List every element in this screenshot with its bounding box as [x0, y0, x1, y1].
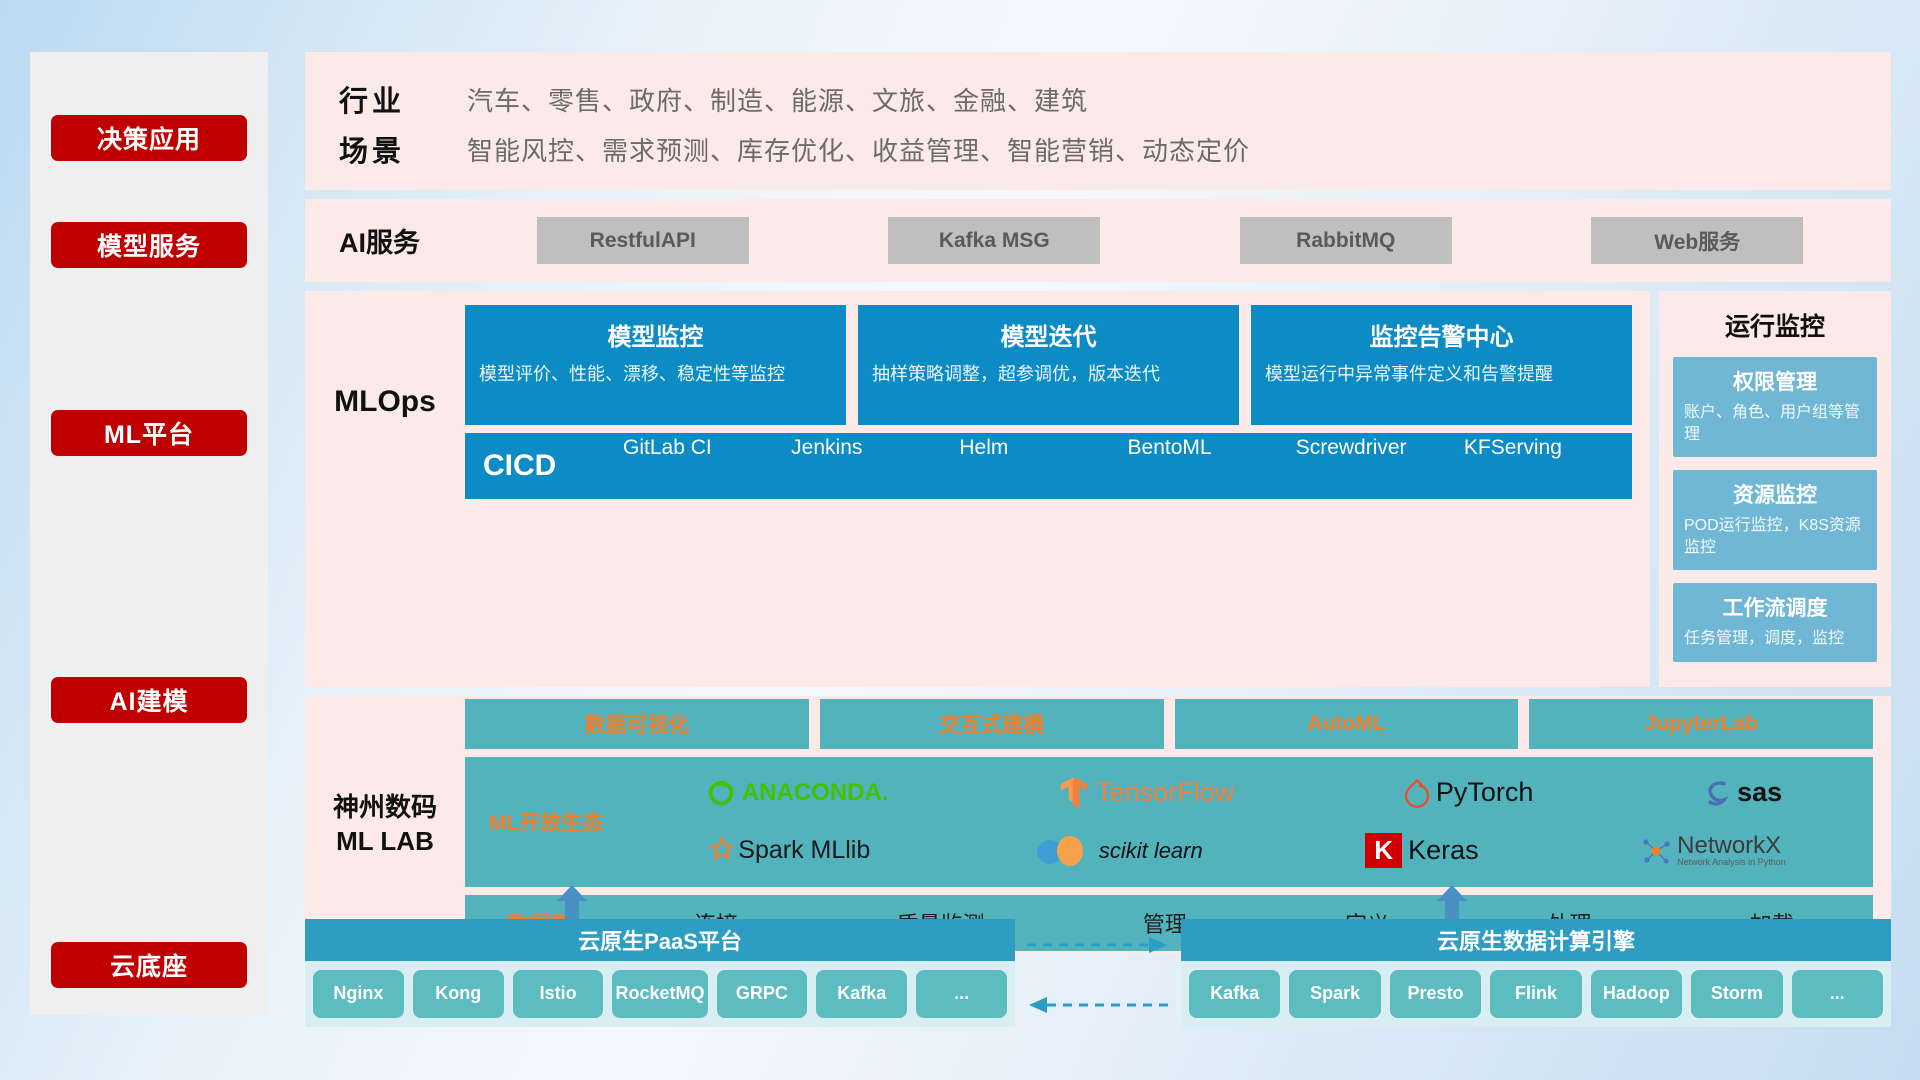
- sidebar-item-label: 云底座: [110, 947, 188, 983]
- pytorch-icon: [1404, 778, 1430, 808]
- mlops-card-model-iteration[interactable]: 模型迭代 抽样策略调整，超参调优，版本迭代: [858, 305, 1239, 425]
- tool-chip-interactive-modeling[interactable]: 交互式建模: [820, 699, 1164, 749]
- card-desc: 任务管理，调度，监控: [1684, 628, 1866, 650]
- sidebar-item-label: 决策应用: [97, 120, 201, 156]
- ml-open-ecosystem: ML开放生态 ANACONDA.: [465, 757, 1873, 887]
- data-compute-engine-block: 云原生数据计算引擎 Kafka Spark Presto Flink Hadoo…: [1181, 919, 1891, 1027]
- data-compute-engine-title: 云原生数据计算引擎: [1181, 919, 1891, 961]
- engine-pill-list: Kafka Spark Presto Flink Hadoop Storm ..…: [1181, 961, 1891, 1027]
- paas-platform-title: 云原生PaaS平台: [305, 919, 1015, 961]
- card-title: 资源监控: [1684, 479, 1866, 509]
- networkx-logo[interactable]: NetworkX Network Analysis in Python: [1641, 834, 1786, 867]
- anaconda-label: ANACONDA.: [742, 779, 889, 807]
- pytorch-label: PyTorch: [1436, 777, 1534, 808]
- tool-chip-data-visualization[interactable]: 数据可视化: [465, 699, 809, 749]
- scikit-learn-icon: [1033, 834, 1093, 868]
- mlops-card-row: 模型监控 模型评价、性能、漂移、稳定性等监控 模型迭代 抽样策略调整，超参调优，…: [465, 305, 1632, 425]
- paas-pill-rocketmq[interactable]: RocketMQ: [612, 970, 707, 1018]
- cicd-item-gitlab-ci[interactable]: GitLab CI: [623, 433, 791, 499]
- ai-service-buttons: RestfulAPI Kafka MSG RabbitMQ Web服务: [467, 217, 1891, 264]
- sidebar-item-model-service[interactable]: 模型服务: [51, 222, 247, 268]
- engine-pill-hadoop[interactable]: Hadoop: [1591, 970, 1682, 1018]
- engine-pill-spark[interactable]: Spark: [1289, 970, 1380, 1018]
- cicd-row: CICD GitLab CI Jenkins Helm BentoML Scre…: [465, 433, 1632, 499]
- paas-pill-istio[interactable]: Istio: [513, 970, 604, 1018]
- architecture-stack: 行业 汽车、零售、政府、制造、能源、文旅、金融、建筑 场景 智能风控、需求预测、…: [305, 52, 1891, 963]
- ai-service-band: AI服务 RestfulAPI Kafka MSG RabbitMQ Web服务: [305, 199, 1891, 282]
- anaconda-icon: [706, 778, 736, 808]
- paas-pill-nginx[interactable]: Nginx: [313, 970, 404, 1018]
- service-button-rabbitmq[interactable]: RabbitMQ: [1240, 217, 1452, 264]
- paas-pill-list: Nginx Kong Istio RocketMQ GRPC Kafka ...: [305, 961, 1015, 1027]
- engine-pill-presto[interactable]: Presto: [1390, 970, 1481, 1018]
- sidebar-item-ml-platform[interactable]: ML平台: [51, 410, 247, 456]
- upward-arrow-engine: [1435, 885, 1469, 919]
- sidebar-item-label: ML平台: [104, 415, 194, 451]
- engine-pill-kafka[interactable]: Kafka: [1189, 970, 1280, 1018]
- cicd-item-kfserving[interactable]: KFServing: [1464, 433, 1632, 499]
- anaconda-logo[interactable]: ANACONDA.: [706, 778, 889, 808]
- spark-mllib-logo[interactable]: Spark MLlib: [702, 836, 870, 866]
- tensorflow-label: TensorFlow: [1096, 777, 1234, 808]
- pytorch-logo[interactable]: PyTorch: [1404, 777, 1534, 808]
- mlops-card-model-monitoring[interactable]: 模型监控 模型评价、性能、漂移、稳定性等监控: [465, 305, 846, 425]
- ecosystem-logo-row-1: ANACONDA. TensorFlow: [621, 765, 1867, 821]
- cicd-label: CICD: [483, 449, 623, 483]
- monitor-card-resource[interactable]: 资源监控 POD运行监控，K8S资源监控: [1673, 470, 1877, 570]
- card-title: 监控告警中心: [1265, 317, 1618, 352]
- card-desc: 抽样策略调整，超参调优，版本迭代: [872, 362, 1225, 386]
- tensorflow-logo[interactable]: TensorFlow: [1058, 776, 1234, 810]
- networkx-label: NetworkX: [1677, 834, 1786, 858]
- cicd-item-jenkins[interactable]: Jenkins: [791, 433, 959, 499]
- runtime-monitor-panel: 运行监控 权限管理 账户、角色、用户组等管理 资源监控 POD运行监控，K8S资…: [1659, 291, 1891, 687]
- industry-value: 汽车、零售、政府、制造、能源、文旅、金融、建筑: [467, 81, 1088, 118]
- sidebar-item-cloud-base[interactable]: 云底座: [51, 942, 247, 988]
- keras-logo[interactable]: K Keras: [1365, 833, 1478, 868]
- scenario-row: 场景 智能风控、需求预测、库存优化、收益管理、智能营销、动态定价: [339, 124, 1891, 174]
- decision-application-band: 行业 汽车、零售、政府、制造、能源、文旅、金融、建筑 场景 智能风控、需求预测、…: [305, 52, 1891, 190]
- scikit-learn-label: scikit learn: [1099, 838, 1203, 864]
- card-title: 权限管理: [1684, 366, 1866, 396]
- sidebar-item-label: 模型服务: [97, 227, 201, 263]
- scikit-learn-logo[interactable]: scikit learn: [1033, 834, 1203, 868]
- monitor-card-permission[interactable]: 权限管理 账户、角色、用户组等管理: [1673, 357, 1877, 457]
- sas-logo[interactable]: sas: [1703, 777, 1782, 808]
- ml-lab-tool-row: 数据可视化 交互式建模 AutoML JupyterLab: [465, 699, 1873, 749]
- networkx-sublabel: Network Analysis in Python: [1677, 858, 1786, 867]
- paas-pill-grpc[interactable]: GRPC: [717, 970, 808, 1018]
- stack-level-sidebar: 决策应用 模型服务 ML平台 AI建模 云底座: [30, 52, 268, 1015]
- card-title: 模型迭代: [872, 317, 1225, 352]
- service-button-restfulapi[interactable]: RestfulAPI: [537, 217, 749, 264]
- keras-k-icon: K: [1365, 833, 1402, 868]
- sidebar-item-label: AI建模: [109, 682, 188, 718]
- cicd-item-bentoml[interactable]: BentoML: [1128, 433, 1296, 499]
- sidebar-item-decision-app[interactable]: 决策应用: [51, 115, 247, 161]
- engine-pill-storm[interactable]: Storm: [1691, 970, 1782, 1018]
- mlops-band: MLOps 模型监控 模型评价、性能、漂移、稳定性等监控 模型迭代 抽样策略调整…: [305, 291, 1650, 687]
- ml-lab-label-en: ML LAB: [305, 825, 465, 859]
- scenario-value: 智能风控、需求预测、库存优化、收益管理、智能营销、动态定价: [467, 131, 1250, 168]
- service-button-kafka-msg[interactable]: Kafka MSG: [888, 217, 1100, 264]
- paas-pill-kafka[interactable]: Kafka: [816, 970, 907, 1018]
- spark-mllib-label: Spark MLlib: [738, 836, 870, 865]
- tool-chip-automl[interactable]: AutoML: [1175, 699, 1519, 749]
- card-desc: 模型运行中异常事件定义和告警提醒: [1265, 362, 1618, 386]
- keras-label: Keras: [1408, 835, 1479, 866]
- sidebar-item-ai-modeling[interactable]: AI建模: [51, 677, 247, 723]
- ecosystem-logo-row-2: Spark MLlib scikit learn K Keras: [621, 823, 1867, 879]
- sas-label: sas: [1737, 777, 1782, 808]
- ml-lab-label-cn: 神州数码: [305, 791, 465, 825]
- ml-lab-label: 神州数码 ML LAB: [305, 791, 465, 859]
- spark-star-icon: [702, 836, 732, 866]
- bidirectional-dashed-connector: [1023, 931, 1173, 1023]
- tensorflow-icon: [1058, 776, 1090, 810]
- engine-pill-flink[interactable]: Flink: [1490, 970, 1581, 1018]
- tool-chip-jupyterlab[interactable]: JupyterLab: [1529, 699, 1873, 749]
- monitor-card-workflow[interactable]: 工作流调度 任务管理，调度，监控: [1673, 583, 1877, 662]
- engine-pill-more[interactable]: ...: [1792, 970, 1883, 1018]
- mlops-label: MLOps: [305, 385, 465, 419]
- paas-pill-more[interactable]: ...: [916, 970, 1007, 1018]
- cloud-base-section: 云原生PaaS平台 Nginx Kong Istio RocketMQ GRPC…: [305, 885, 1891, 1045]
- upward-arrow-paas: [555, 885, 589, 919]
- monitor-panel-title: 运行监控: [1673, 307, 1877, 343]
- scenario-label: 场景: [339, 128, 467, 170]
- ml-ecosystem-label: ML开放生态: [471, 807, 621, 837]
- industry-label: 行业: [339, 78, 467, 120]
- cicd-item-screwdriver[interactable]: Screwdriver: [1296, 433, 1464, 499]
- mlops-and-monitor-row: MLOps 模型监控 模型评价、性能、漂移、稳定性等监控 模型迭代 抽样策略调整…: [305, 291, 1891, 687]
- card-title: 工作流调度: [1684, 592, 1866, 622]
- card-desc: POD运行监控，K8S资源监控: [1684, 515, 1866, 558]
- card-desc: 账户、角色、用户组等管理: [1684, 402, 1866, 445]
- ai-service-label: AI服务: [339, 221, 467, 260]
- card-title: 模型监控: [479, 317, 832, 352]
- networkx-icon: [1641, 836, 1671, 866]
- sas-icon: [1703, 778, 1731, 808]
- card-desc: 模型评价、性能、漂移、稳定性等监控: [479, 362, 832, 386]
- cicd-items: GitLab CI Jenkins Helm BentoML Screwdriv…: [623, 433, 1632, 499]
- service-button-web[interactable]: Web服务: [1591, 217, 1803, 264]
- industry-row: 行业 汽车、零售、政府、制造、能源、文旅、金融、建筑: [339, 74, 1891, 124]
- paas-pill-kong[interactable]: Kong: [413, 970, 504, 1018]
- mlops-card-alert-center[interactable]: 监控告警中心 模型运行中异常事件定义和告警提醒: [1251, 305, 1632, 425]
- cicd-item-helm[interactable]: Helm: [959, 433, 1127, 499]
- paas-platform-block: 云原生PaaS平台 Nginx Kong Istio RocketMQ GRPC…: [305, 919, 1015, 1027]
